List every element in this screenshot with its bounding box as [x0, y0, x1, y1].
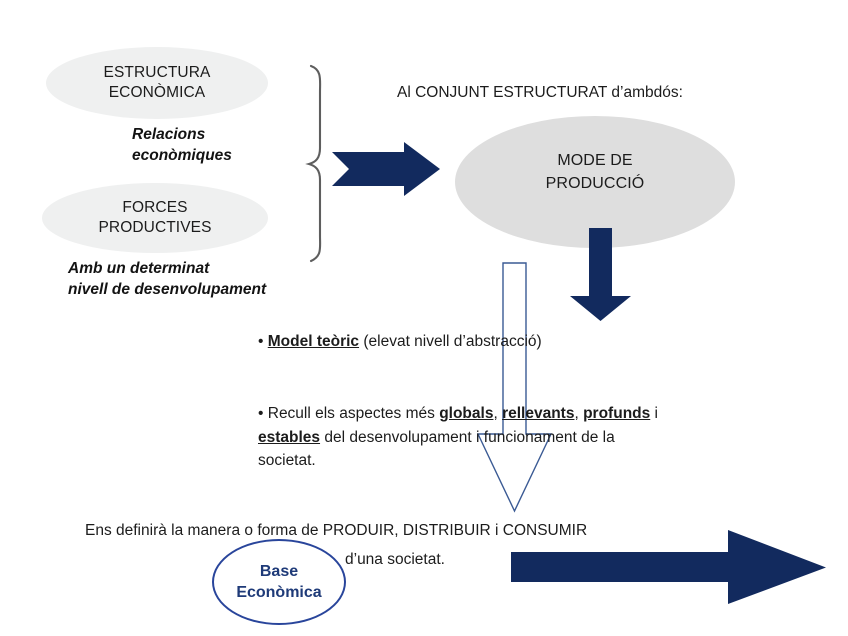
bullet-run-6: i [650, 405, 658, 422]
estructura-economica-label: ESTRUCTURA ECONÒMICA [104, 63, 211, 104]
bullet-list: • Model teòric (elevat nivell d’abstracc… [258, 330, 658, 368]
navy-down-arrow-icon [570, 228, 631, 321]
estructura-economica-ellipse: ESTRUCTURA ECONÒMICA [46, 47, 268, 119]
forces-productives-label: FORCES PRODUCTIVES [98, 198, 211, 239]
bullet-run-5: profunds [583, 405, 650, 422]
bullet-run-3: rellevants [502, 405, 574, 422]
slide-canvas: ESTRUCTURA ECONÒMICA Relacions econòmiqu… [0, 0, 848, 636]
nivell-desenvolupament-caption: Amb un determinat nivell de desenvolupam… [68, 258, 328, 300]
conclusion-line-two: d’una societat. [345, 548, 445, 571]
base-economica-ellipse: Base Econòmica [212, 539, 346, 625]
bullet-run-4: , [574, 405, 583, 422]
bullet-list-secondary: • Recull els aspectes més globals, relle… [258, 402, 668, 487]
mode-produccio-label: MODE DE PRODUCCIÓ [546, 152, 645, 192]
bullet-run-0: Recull els aspectes més [263, 405, 439, 422]
bullet-run-1: Model teòric [268, 333, 359, 350]
bullet-run-2: (elevat nivell d’abstracció) [359, 333, 542, 350]
relacions-economiques-caption: Relacions econòmiques [132, 124, 322, 166]
bullet-item-recull: • Recull els aspectes més globals, relle… [258, 402, 668, 473]
conclusion-line-one: Ens definirà la manera o forma de PRODUI… [85, 519, 587, 542]
mode-produccio-ellipse: MODE DE PRODUCCIÓ [455, 150, 735, 195]
base-economica-label: Base Econòmica [236, 561, 321, 604]
bullet-run-2: , [493, 405, 502, 422]
bullet-item-model-teoric: • Model teòric (elevat nivell d’abstracc… [258, 330, 658, 354]
bullet-run-1: globals [439, 405, 493, 422]
bullet-run-7: estables [258, 429, 320, 446]
navy-right-arrow-icon [332, 142, 440, 196]
conjunt-estructurat-headline: Al CONJUNT ESTRUCTURAT d’ambdós: [397, 82, 683, 104]
forces-productives-ellipse: FORCES PRODUCTIVES [42, 183, 268, 253]
